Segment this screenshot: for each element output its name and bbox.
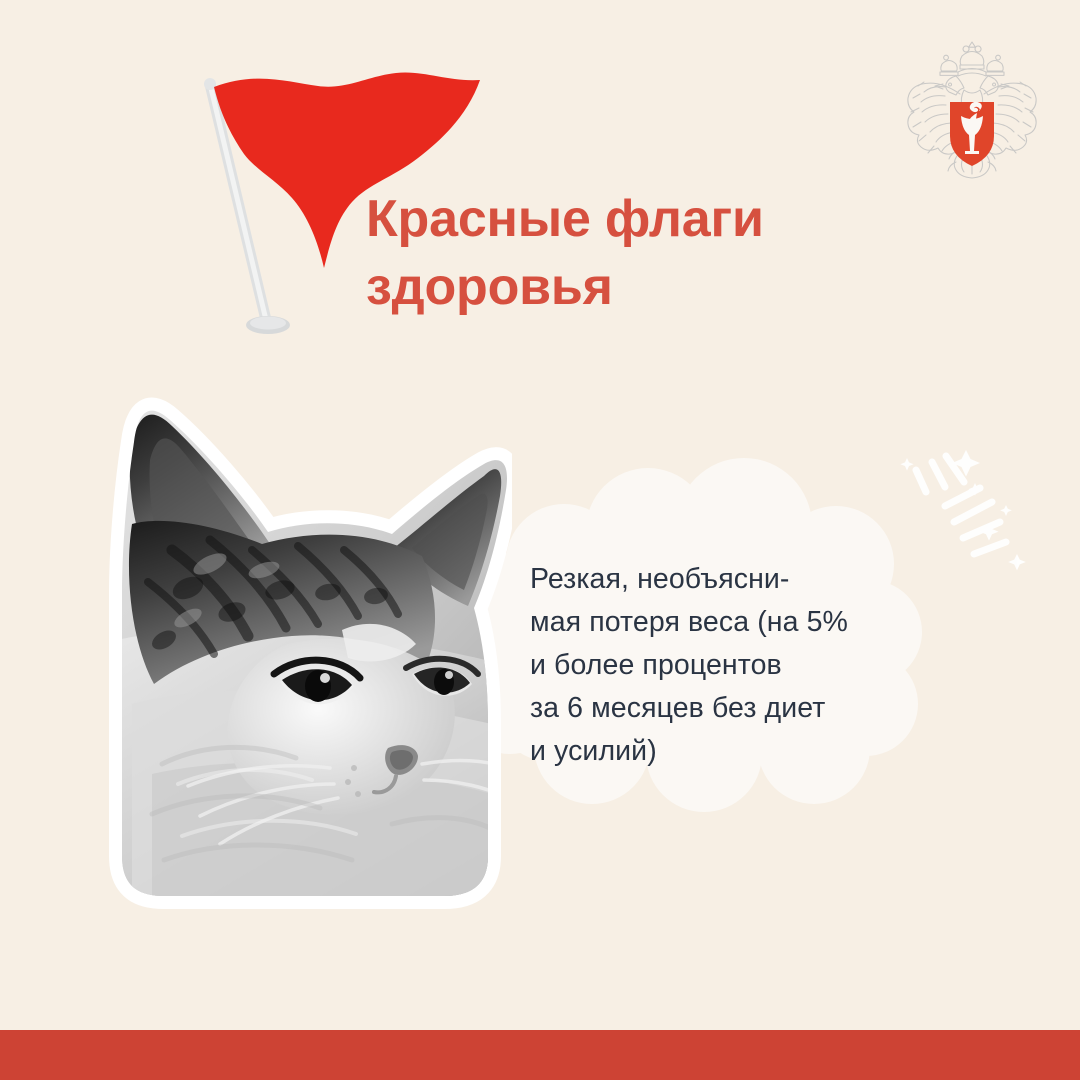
- title-line-2: здоровья: [366, 254, 836, 322]
- ministry-of-health-emblem-icon: [898, 34, 1046, 180]
- bubble-body-text: Резкая, необъясни- мая потеря веса (на 5…: [530, 558, 910, 773]
- cat-photo-sticker: [92, 344, 512, 922]
- red-accent-bar: [0, 1030, 1080, 1080]
- page-title: Красные флаги здоровья: [366, 186, 836, 321]
- poster-canvas: Красные флаги здоровья: [0, 0, 1080, 1080]
- title-line-1: Красные флаги: [366, 186, 836, 254]
